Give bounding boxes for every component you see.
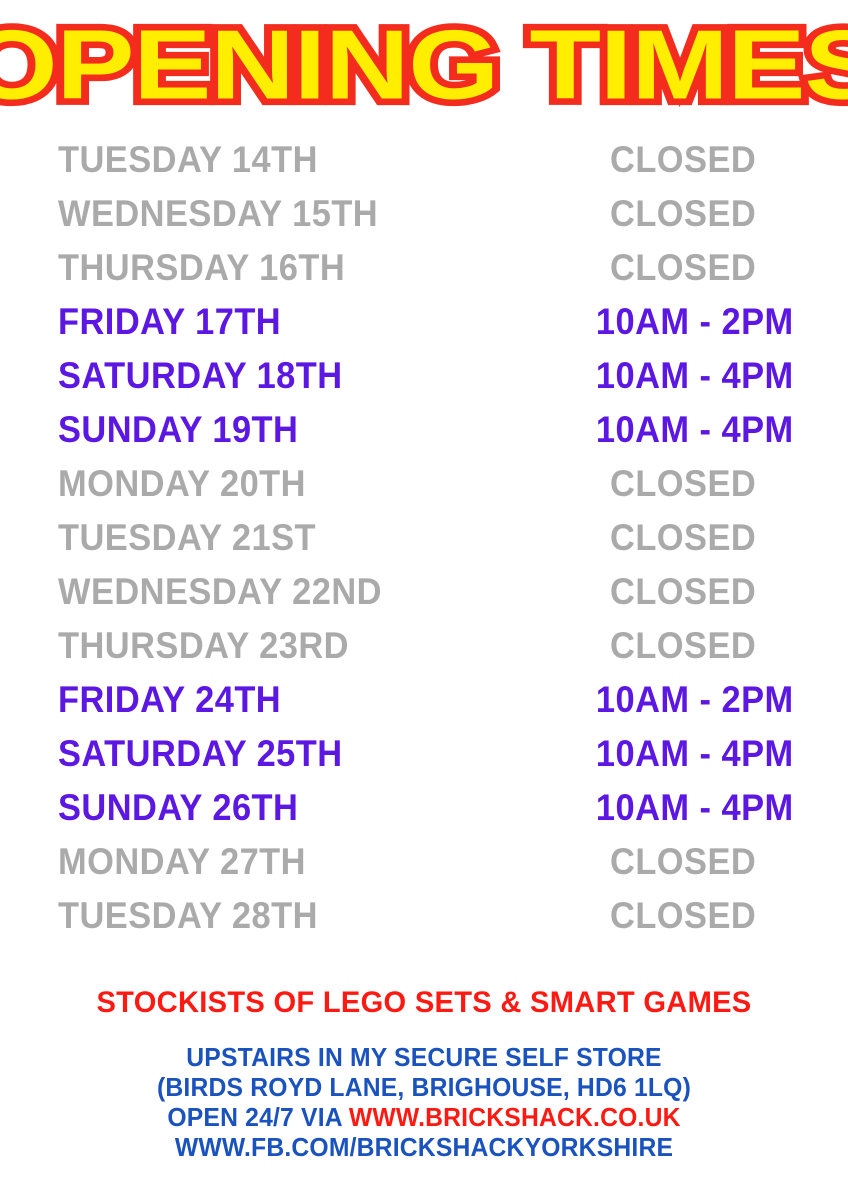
schedule-row: THURSDAY 16THCLOSED: [0, 241, 848, 295]
schedule-day-label: MONDAY 20TH: [58, 457, 306, 511]
schedule-day-label: SATURDAY 18TH: [58, 349, 343, 403]
schedule-day-label: FRIDAY 24TH: [58, 673, 281, 727]
website-line: OPEN 24/7 VIA WWW.BRICKSHACK.CO.UK: [21, 1102, 827, 1132]
facebook-link[interactable]: WWW.FB.COM/BRICKSHACKYORKSHIRE: [21, 1132, 827, 1162]
schedule-day-label: SATURDAY 25TH: [58, 727, 343, 781]
schedule-day-label: THURSDAY 16TH: [58, 241, 345, 295]
address-line-2: (BIRDS ROYD LANE, BRIGHOUSE, HD6 1LQ): [21, 1072, 827, 1102]
schedule-row: FRIDAY 17TH10AM - 2PM: [0, 295, 848, 349]
schedule-day-label: SUNDAY 19TH: [58, 403, 298, 457]
address-block: UPSTAIRS IN MY SECURE SELF STORE (BIRDS …: [0, 1042, 848, 1162]
schedule-row: WEDNESDAY 22NDCLOSED: [0, 565, 848, 619]
schedule-day-label: WEDNESDAY 15TH: [58, 187, 378, 241]
page-title: OPENING TIMES: [0, 17, 848, 115]
schedule-day-label: WEDNESDAY 22ND: [58, 565, 382, 619]
schedule-hours-label: CLOSED: [610, 619, 756, 673]
schedule-hours-label: CLOSED: [610, 133, 756, 187]
schedule-day-label: MONDAY 27TH: [58, 835, 306, 889]
schedule-hours-label: CLOSED: [610, 457, 756, 511]
schedule-day-label: TUESDAY 28TH: [58, 889, 318, 943]
schedule-row: TUESDAY 21STCLOSED: [0, 511, 848, 565]
schedule-list: TUESDAY 14THCLOSEDWEDNESDAY 15THCLOSEDTH…: [0, 133, 848, 943]
schedule-day-label: TUESDAY 21ST: [58, 511, 316, 565]
schedule-row: SATURDAY 18TH10AM - 4PM: [0, 349, 848, 403]
schedule-hours-label: CLOSED: [610, 187, 756, 241]
schedule-row: WEDNESDAY 15THCLOSED: [0, 187, 848, 241]
schedule-row: MONDAY 27THCLOSED: [0, 835, 848, 889]
schedule-row: TUESDAY 28THCLOSED: [0, 889, 848, 943]
title-block: OPENING TIMES: [0, 16, 848, 116]
schedule-row: SUNDAY 26TH10AM - 4PM: [0, 781, 848, 835]
schedule-hours-label: 10AM - 4PM: [596, 403, 794, 457]
address-line-1: UPSTAIRS IN MY SECURE SELF STORE: [21, 1042, 827, 1072]
schedule-row: SUNDAY 19TH10AM - 4PM: [0, 403, 848, 457]
schedule-hours-label: CLOSED: [610, 511, 756, 565]
schedule-row: THURSDAY 23RDCLOSED: [0, 619, 848, 673]
website-link[interactable]: WWW.BRICKSHACK.CO.UK: [349, 1102, 681, 1132]
schedule-hours-label: 10AM - 4PM: [596, 349, 794, 403]
schedule-hours-label: CLOSED: [610, 889, 756, 943]
opening-times-poster: OPENING TIMES TUESDAY 14THCLOSEDWEDNESDA…: [0, 0, 848, 1200]
schedule-hours-label: CLOSED: [610, 565, 756, 619]
schedule-row: TUESDAY 14THCLOSED: [0, 133, 848, 187]
schedule-day-label: SUNDAY 26TH: [58, 781, 298, 835]
schedule-row: FRIDAY 24TH10AM - 2PM: [0, 673, 848, 727]
open-24-7-prefix: OPEN 24/7 VIA: [167, 1102, 349, 1132]
schedule-hours-label: CLOSED: [610, 241, 756, 295]
schedule-day-label: THURSDAY 23RD: [58, 619, 349, 673]
schedule-row: SATURDAY 25TH10AM - 4PM: [0, 727, 848, 781]
schedule-hours-label: 10AM - 2PM: [596, 295, 794, 349]
schedule-hours-label: 10AM - 2PM: [596, 673, 794, 727]
schedule-day-label: TUESDAY 14TH: [58, 133, 318, 187]
schedule-hours-label: CLOSED: [610, 835, 756, 889]
stockists-line: STOCKISTS OF LEGO SETS & SMART GAMES: [13, 985, 836, 1021]
footer-block: STOCKISTS OF LEGO SETS & SMART GAMES UPS…: [0, 985, 848, 1162]
schedule-day-label: FRIDAY 17TH: [58, 295, 281, 349]
schedule-hours-label: 10AM - 4PM: [596, 781, 794, 835]
schedule-hours-label: 10AM - 4PM: [596, 727, 794, 781]
schedule-row: MONDAY 20THCLOSED: [0, 457, 848, 511]
